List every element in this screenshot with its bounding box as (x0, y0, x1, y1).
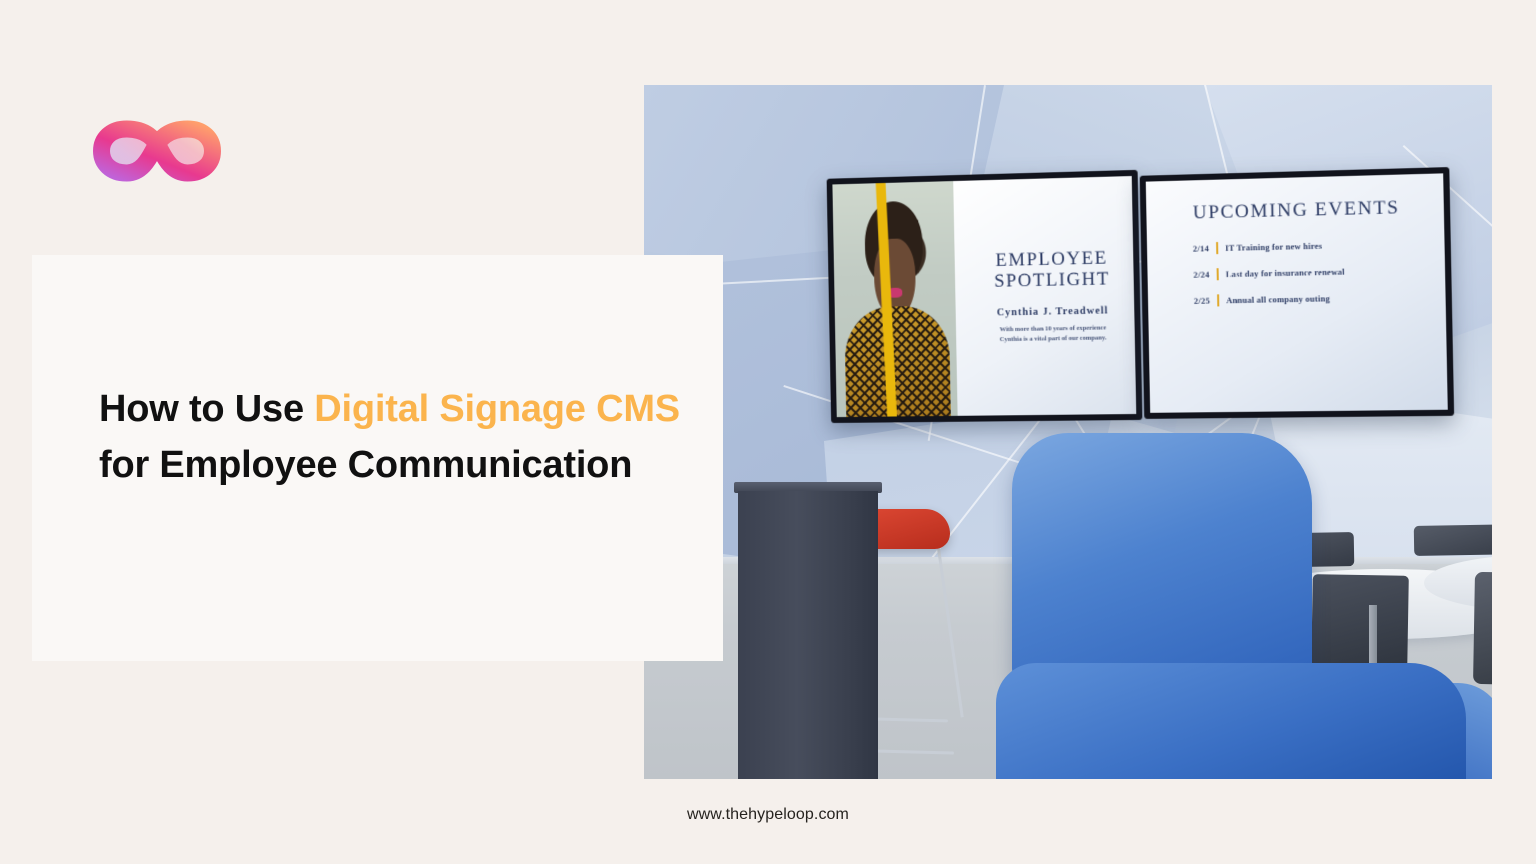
title-part-1: How to Use (99, 388, 314, 430)
blue-armchair-seat (996, 663, 1466, 779)
digital-signage-display-pair: EMPLOYEE SPOTLIGHT Cynthia J. Treadwell … (827, 161, 1455, 423)
spotlight-person-name: Cynthia J. Treadwell (997, 306, 1109, 319)
events-title: UPCOMING EVENTS (1164, 196, 1429, 225)
event-date: 2/24 (1187, 270, 1209, 280)
title-part-2: for Employee Communication (99, 444, 632, 486)
grey-chair (1473, 572, 1492, 686)
event-label: Annual all company outing (1226, 294, 1330, 305)
event-date: 2/14 (1187, 244, 1209, 254)
office-photo: EMPLOYEE SPOTLIGHT Cynthia J. Treadwell … (644, 85, 1492, 779)
title-highlight: Digital Signage CMS (314, 388, 680, 430)
event-item: 2/24 Last day for insurance renewal (1187, 264, 1430, 281)
event-item: 2/14 IT Training for new hires (1187, 237, 1430, 255)
grey-chair (1414, 524, 1492, 556)
page-title: How to Use Digital Signage CMSfor Employ… (99, 382, 699, 494)
upcoming-events-screen: UPCOMING EVENTS 2/14 IT Training for new… (1140, 167, 1454, 418)
footer-url[interactable]: www.thehypeloop.com (0, 806, 1536, 824)
infinity-loop-logo[interactable] (92, 112, 222, 190)
spotlight-body-text: With more than 10 years of experience Cy… (994, 324, 1112, 346)
event-item: 2/25 Annual all company outing (1188, 290, 1431, 307)
event-label: IT Training for new hires (1225, 241, 1322, 252)
event-divider (1217, 268, 1219, 280)
headline-card: How to Use Digital Signage CMSfor Employ… (32, 255, 723, 661)
portrait-clothing (844, 306, 950, 418)
infinity-icon (92, 112, 222, 190)
event-date: 2/25 (1188, 296, 1210, 305)
spotlight-text-block: EMPLOYEE SPOTLIGHT Cynthia J. Treadwell … (953, 176, 1136, 416)
event-label: Last day for insurance renewal (1226, 267, 1345, 279)
spotlight-title-line1: EMPLOYEE (995, 247, 1108, 270)
grey-chair (1311, 574, 1409, 672)
event-divider (1217, 294, 1219, 306)
spotlight-title: EMPLOYEE SPOTLIGHT (994, 247, 1111, 292)
dark-counter (738, 491, 878, 779)
event-divider (1216, 242, 1218, 254)
employee-portrait (832, 181, 957, 417)
employee-spotlight-screen: EMPLOYEE SPOTLIGHT Cynthia J. Treadwell … (827, 170, 1143, 423)
events-slide: UPCOMING EVENTS 2/14 IT Training for new… (1146, 173, 1448, 412)
spotlight-title-line2: SPOTLIGHT (994, 269, 1110, 292)
blue-armchair-back (1012, 433, 1312, 683)
